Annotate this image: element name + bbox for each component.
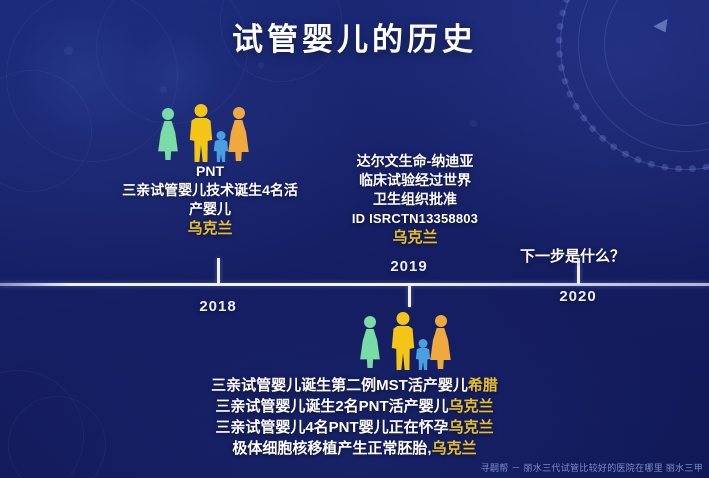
timeline-axis bbox=[0, 283, 709, 286]
event-block-middle: 达尔文生命-纳迪亚 临床试验经过世界 卫生组织批准 ID ISRCTN13358… bbox=[325, 152, 505, 247]
family-group-icon-bottom bbox=[357, 310, 457, 368]
bottom-item-text: 三亲试管婴儿诞生第二例MST活产婴儿 bbox=[211, 377, 468, 394]
figure-head bbox=[233, 107, 245, 119]
bottom-item-text: 极体细胞核移植产生正常胚胎, bbox=[232, 440, 431, 457]
bottom-item-country: 希腊 bbox=[468, 377, 498, 394]
man-figure-icon bbox=[187, 104, 215, 162]
timeline-tick-2018 bbox=[217, 258, 220, 284]
event-middle-country: 乌克兰 bbox=[325, 228, 505, 247]
figure-head bbox=[162, 108, 174, 120]
timeline-tick-2019 bbox=[408, 285, 411, 307]
figure-head bbox=[435, 315, 447, 327]
bottom-item-text: 三亲试管婴儿诞生2名PNT活产婴儿 bbox=[215, 398, 448, 415]
event-left-line-1: 三亲试管婴儿技术诞生4名活 bbox=[90, 181, 330, 200]
bottom-item-country: 乌克兰 bbox=[449, 398, 494, 415]
event-middle-trial-id: ID ISRCTN13358803 bbox=[325, 209, 505, 228]
background-dot bbox=[160, 86, 167, 93]
event-middle-line-2: 临床试验经过世界 bbox=[325, 171, 505, 190]
figure-head bbox=[195, 104, 208, 117]
event-left-line-2: 产婴儿 bbox=[90, 200, 330, 219]
bottom-list-item: 三亲试管婴儿诞生2名PNT活产婴儿乌克兰 bbox=[0, 396, 709, 417]
event-middle-line-1: 达尔文生命-纳迪亚 bbox=[325, 152, 505, 171]
bottom-event-list: 三亲试管婴儿诞生第二例MST活产婴儿希腊 三亲试管婴儿诞生2名PNT活产婴儿乌克… bbox=[0, 375, 709, 459]
event-left-label: PNT bbox=[90, 162, 330, 181]
event-middle-line-3: 卫生组织批准 bbox=[325, 190, 505, 209]
bottom-item-country: 乌克兰 bbox=[449, 419, 494, 436]
timeline-year-2018: 2018 bbox=[199, 298, 236, 315]
figure-body bbox=[187, 118, 215, 162]
event-left-country: 乌克兰 bbox=[90, 219, 330, 238]
figure-body bbox=[389, 326, 417, 370]
man-figure-icon bbox=[389, 312, 417, 370]
bottom-item-text: 三亲试管婴儿4名PNT婴儿正在怀孕 bbox=[215, 419, 448, 436]
event-block-left: PNT 三亲试管婴儿技术诞生4名活 产婴儿 乌克兰 bbox=[90, 162, 330, 238]
figure-body bbox=[155, 121, 181, 160]
woman-figure-icon bbox=[225, 107, 252, 161]
watermark-text: 寻嗣帮 － 丽水三代试管比较好的医院在哪里 丽水三甲 bbox=[481, 461, 703, 474]
timeline-year-2019: 2019 bbox=[390, 258, 427, 275]
figure-body bbox=[225, 120, 252, 161]
bottom-list-item: 三亲试管婴儿诞生第二例MST活产婴儿希腊 bbox=[0, 375, 709, 396]
family-group-icon-top bbox=[155, 102, 255, 160]
background-dot bbox=[258, 62, 264, 68]
bottom-list-item: 极体细胞核移植产生正常胚胎,乌克兰 bbox=[0, 438, 709, 459]
figure-head bbox=[397, 312, 410, 325]
figure-head bbox=[364, 316, 376, 328]
slide-canvas: 试管婴儿的历史 2018 2019 2020 PNT 三亲试管婴儿技术 bbox=[0, 0, 709, 478]
woman-figure-icon bbox=[155, 108, 181, 160]
event-right-question: 下一步是什么？ bbox=[520, 245, 625, 266]
background-ring bbox=[0, 70, 92, 192]
woman-figure-icon bbox=[427, 315, 454, 369]
slide-title: 试管婴儿的历史 bbox=[0, 14, 709, 59]
bottom-list-item: 三亲试管婴儿4名PNT婴儿正在怀孕乌克兰 bbox=[0, 417, 709, 438]
figure-body bbox=[427, 328, 454, 369]
woman-figure-icon bbox=[357, 316, 383, 368]
timeline-year-2020: 2020 bbox=[559, 288, 596, 305]
bottom-item-country: 乌克兰 bbox=[432, 440, 477, 457]
figure-body bbox=[357, 329, 383, 368]
